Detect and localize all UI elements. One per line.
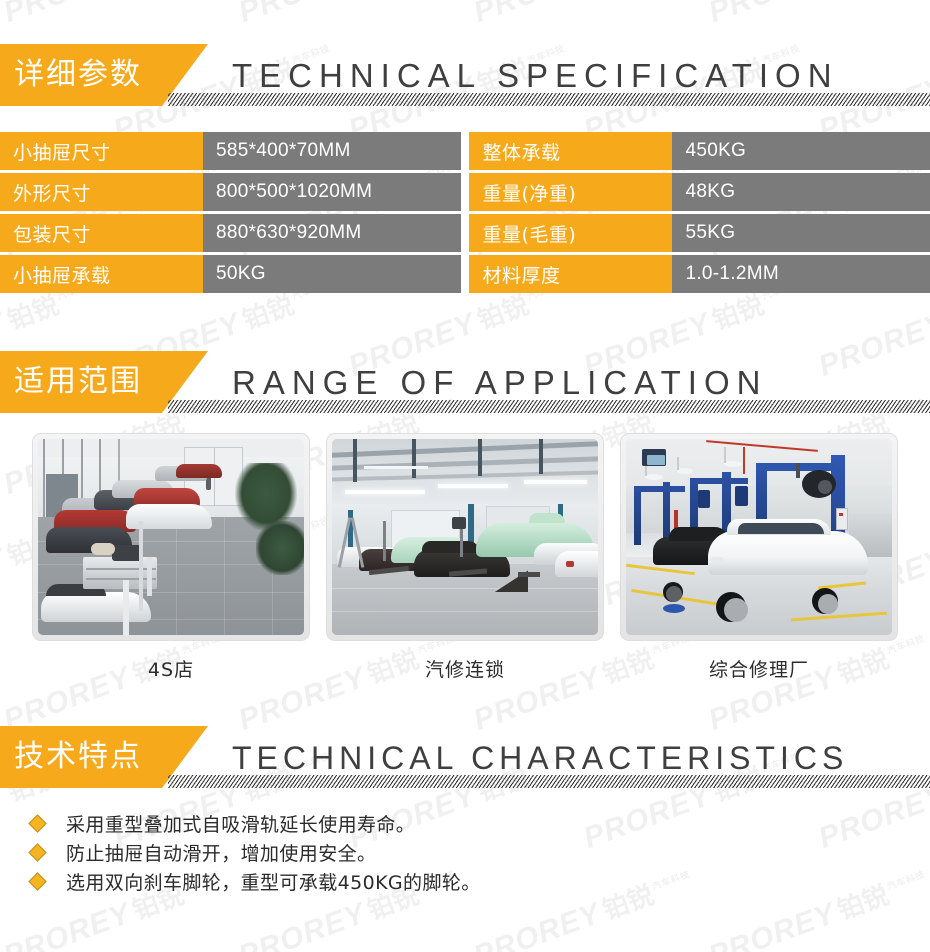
- product-detail-page: PROREY铂锐汽车科技PROREY铂锐汽车科技PROREY铂锐汽车科技PROR…: [0, 0, 930, 952]
- column-divider: [464, 255, 467, 293]
- application-photo-cell: 4S店: [32, 433, 310, 682]
- application-photo-cell: 综合修理厂: [620, 433, 898, 682]
- specification-table: 小抽屉尺寸 585*400*70MM 整体承载 450KG 外形尺寸 800*5…: [0, 132, 930, 293]
- feature-text: 选用双向刹车脚轮，重型可承载450KG的脚轮。: [66, 868, 481, 895]
- spec-value: 585*400*70MM: [203, 132, 461, 170]
- spec-pair-right: 重量(毛重) 55KG: [469, 214, 930, 252]
- spec-value: 55KG: [672, 214, 930, 252]
- spec-label: 小抽屉尺寸: [0, 132, 203, 170]
- spec-pair-right: 重量(净重) 48KG: [469, 173, 930, 211]
- section-header-technical-characteristics: 技术特点 TECHNICAL CHARACTERISTICS: [0, 726, 930, 788]
- table-row: 外形尺寸 800*500*1020MM 重量(净重) 48KG: [0, 173, 930, 211]
- section-tab-label: 详细参数: [14, 60, 142, 90]
- diamond-bullet-icon: [28, 843, 46, 861]
- section-tab-label: 技术特点: [14, 742, 142, 772]
- column-divider: [464, 132, 467, 170]
- section-english-title: TECHNICAL SPECIFICATION: [232, 56, 930, 96]
- spec-label: 包装尺寸: [0, 214, 203, 252]
- photo-caption: 4S店: [32, 655, 310, 682]
- table-row: 小抽屉尺寸 585*400*70MM 整体承载 450KG: [0, 132, 930, 170]
- spec-pair-right: 材料厚度 1.0-1.2MM: [469, 255, 930, 293]
- spec-pair-left: 包装尺寸 880*630*920MM: [0, 214, 461, 252]
- photo-caption: 综合修理厂: [620, 655, 898, 682]
- spec-label: 外形尺寸: [0, 173, 203, 211]
- general-repair-garage-photo: [626, 439, 892, 635]
- watermark-text: PROREY铂锐汽车科技: [0, 0, 225, 28]
- spec-value: 800*500*1020MM: [203, 173, 461, 211]
- spec-label: 小抽屉承载: [0, 255, 203, 293]
- spec-value: 50KG: [203, 255, 461, 293]
- section-english-title: TECHNICAL CHARACTERISTICS: [232, 738, 930, 778]
- section-header-technical-specification: 详细参数 TECHNICAL SPECIFICATION: [0, 44, 930, 106]
- technical-features-list: 采用重型叠加式自吸滑轨延长使用寿命。 防止抽屉自动滑开，增加使用安全。 选用双向…: [0, 809, 930, 896]
- spec-pair-left: 外形尺寸 800*500*1020MM: [0, 173, 461, 211]
- application-photo-cell: 汽修连锁: [326, 433, 604, 682]
- spec-pair-left: 小抽屉尺寸 585*400*70MM: [0, 132, 461, 170]
- repair-chain-workshop-photo: [332, 439, 598, 635]
- feature-text: 采用重型叠加式自吸滑轨延长使用寿命。: [66, 810, 415, 837]
- hatch-stripe-decoration: [168, 400, 930, 413]
- spec-label: 重量(净重): [469, 173, 672, 211]
- table-row: 小抽屉承载 50KG 材料厚度 1.0-1.2MM: [0, 255, 930, 293]
- column-divider: [464, 173, 467, 211]
- watermark-text: PROREY铂锐汽车科技: [470, 0, 695, 28]
- feature-text: 防止抽屉自动滑开，增加使用安全。: [66, 839, 376, 866]
- spec-label: 整体承载: [469, 132, 672, 170]
- table-row: 包装尺寸 880*630*920MM 重量(毛重) 55KG: [0, 214, 930, 252]
- hatch-stripe-decoration: [168, 775, 930, 788]
- list-item: 防止抽屉自动滑开，增加使用安全。: [31, 838, 930, 867]
- diamond-bullet-icon: [28, 814, 46, 832]
- photo-frame: [32, 433, 310, 641]
- spec-label: 材料厚度: [469, 255, 672, 293]
- list-item: 采用重型叠加式自吸滑轨延长使用寿命。: [31, 809, 930, 838]
- application-photo-row: 4S店: [0, 433, 930, 682]
- section-english-title: RANGE OF APPLICATION: [232, 363, 930, 403]
- column-divider: [464, 214, 467, 252]
- photo-caption: 汽修连锁: [326, 655, 604, 682]
- section-header-range-of-application: 适用范围 RANGE OF APPLICATION: [0, 351, 930, 413]
- spec-value: 48KG: [672, 173, 930, 211]
- spec-label: 重量(毛重): [469, 214, 672, 252]
- photo-frame: [326, 433, 604, 641]
- spec-value: 880*630*920MM: [203, 214, 461, 252]
- diamond-bullet-icon: [28, 872, 46, 890]
- watermark-text: PROREY铂锐汽车科技: [235, 0, 460, 28]
- section-tab-label: 适用范围: [14, 367, 142, 397]
- spec-pair-right: 整体承载 450KG: [469, 132, 930, 170]
- watermark-text: PROREY铂锐汽车科技: [705, 0, 930, 28]
- list-item: 选用双向刹车脚轮，重型可承载450KG的脚轮。: [31, 867, 930, 896]
- spec-value: 1.0-1.2MM: [672, 255, 930, 293]
- hatch-stripe-decoration: [168, 93, 930, 106]
- photo-frame: [620, 433, 898, 641]
- spec-pair-left: 小抽屉承载 50KG: [0, 255, 461, 293]
- spec-value: 450KG: [672, 132, 930, 170]
- car-showroom-photo: [38, 439, 304, 635]
